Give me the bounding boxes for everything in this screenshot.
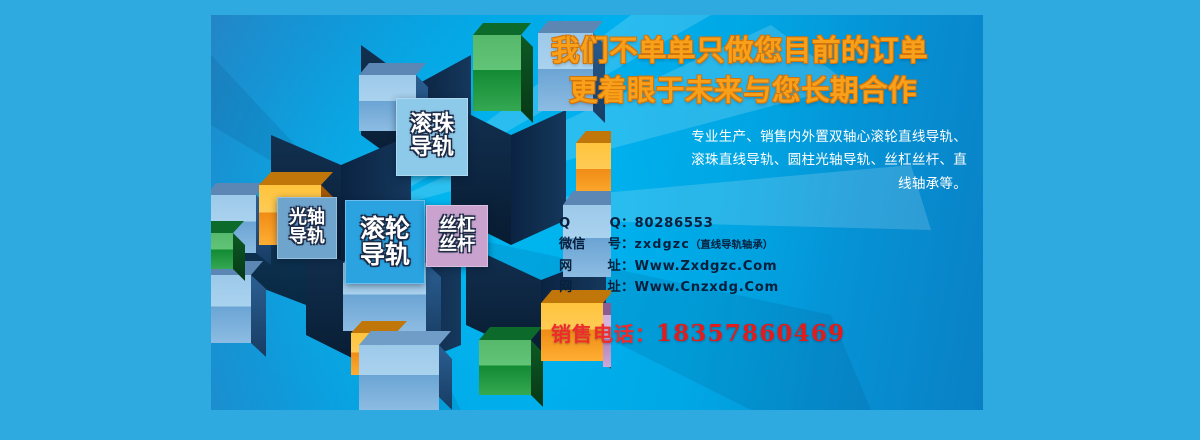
contact-label-qq-b: Q <box>609 213 621 234</box>
description: 专业生产、销售内外置双轴心滚轮直线导轨、 滚珠直线导轨、圆柱光轴导轨、丝杠丝杆、… <box>551 126 971 196</box>
contact-label-website-1-b: 址 <box>608 256 622 277</box>
contact-row-wechat: 微信 号 ： zxdgzc （直线导轨轴承） <box>559 234 971 255</box>
sales-phone[interactable]: 销售电话： 18357860469 <box>551 318 971 347</box>
contact-label-website-1-a: 网 <box>559 256 573 277</box>
contact-label-qq: Q Q <box>559 213 621 234</box>
product-tile-sigang-sigan-line2: 丝杆 <box>439 236 475 255</box>
banner-panel: 滚珠 导轨 光轴 导轨 滚轮 导轨 丝杠 丝杆 我们不单单只做您目前的订单 更着… <box>211 15 983 410</box>
contact-sep-website-1: ： <box>621 256 635 277</box>
contact-sep-wechat: ： <box>621 234 635 255</box>
contact-value-wechat[interactable]: zxdgzc <box>635 234 690 254</box>
product-tile-gunlun-daogui[interactable]: 滚轮 导轨 <box>345 200 425 284</box>
description-line-2: 滚珠直线导轨、圆柱光轴导轨、丝杠丝杆、直 <box>551 149 967 172</box>
headline: 我们不单单只做您目前的订单 更着眼于未来与您长期合作 <box>551 31 971 112</box>
product-tile-sigang-sigan[interactable]: 丝杠 丝杆 <box>426 205 488 267</box>
contact-label-wechat: 微信 号 <box>559 234 621 255</box>
cube-blue-6 <box>359 331 452 410</box>
headline-line-2: 更着眼于未来与您长期合作 <box>569 71 971 111</box>
product-tile-gunlun-daogui-line1: 滚轮 <box>360 216 410 242</box>
contact-row-qq: Q Q ： 80286553 <box>559 213 971 234</box>
product-tile-gunzhu-daogui-line2: 导轨 <box>410 137 454 160</box>
description-line-3: 线轴承等。 <box>551 173 967 196</box>
contact-label-wechat-a: 微信 <box>559 234 585 255</box>
contact-value-qq[interactable]: 80286553 <box>635 213 714 234</box>
description-line-1: 专业生产、销售内外置双轴心滚轮直线导轨、 <box>551 126 967 149</box>
contact-sep-qq: ： <box>621 213 635 234</box>
product-tile-gunlun-daogui-line2: 导轨 <box>360 242 410 268</box>
contact-sep-website-2: ： <box>621 277 635 298</box>
marketing-copy: 我们不单单只做您目前的订单 更着眼于未来与您长期合作 专业生产、销售内外置双轴心… <box>551 31 971 401</box>
sales-phone-label: 销售电话： <box>551 318 656 347</box>
contact-label-website-2: 网 址 <box>559 277 621 298</box>
contact-value-website-1[interactable]: Www.Zxdgzc.Com <box>635 256 778 277</box>
product-tile-guangzhou-daogui[interactable]: 光轴 导轨 <box>277 197 337 259</box>
product-tile-gunzhu-daogui[interactable]: 滚珠 导轨 <box>396 98 468 176</box>
contact-label-qq-a: Q <box>559 213 571 234</box>
contact-label-website-1: 网 址 <box>559 256 621 277</box>
sales-phone-number[interactable]: 18357860469 <box>656 320 845 347</box>
contact-label-website-2-b: 址 <box>608 277 622 298</box>
contact-row-website-2: 网 址 ： Www.Cnzxdg.Com <box>559 277 971 298</box>
contact-row-website-1: 网 址 ： Www.Zxdgzc.Com <box>559 256 971 277</box>
product-tile-guangzhou-daogui-line2: 导轨 <box>289 228 325 247</box>
contact-note-wechat: （直线导轨轴承） <box>690 237 773 254</box>
banner-page: 滚珠 导轨 光轴 导轨 滚轮 导轨 丝杠 丝杆 我们不单单只做您目前的订单 更着… <box>0 0 1200 440</box>
contact-value-website-2[interactable]: Www.Cnzxdg.Com <box>635 277 780 298</box>
contact-label-website-2-a: 网 <box>559 277 573 298</box>
cube-green-1 <box>473 23 533 123</box>
contact-label-wechat-b: 号 <box>608 234 621 255</box>
headline-line-1: 我们不单单只做您目前的订单 <box>551 31 971 71</box>
product-tile-gunzhu-daogui-line1: 滚珠 <box>410 114 454 137</box>
contact-block: Q Q ： 80286553 微信 号 ： zxdgzc （直线导轨轴承） <box>551 213 971 299</box>
